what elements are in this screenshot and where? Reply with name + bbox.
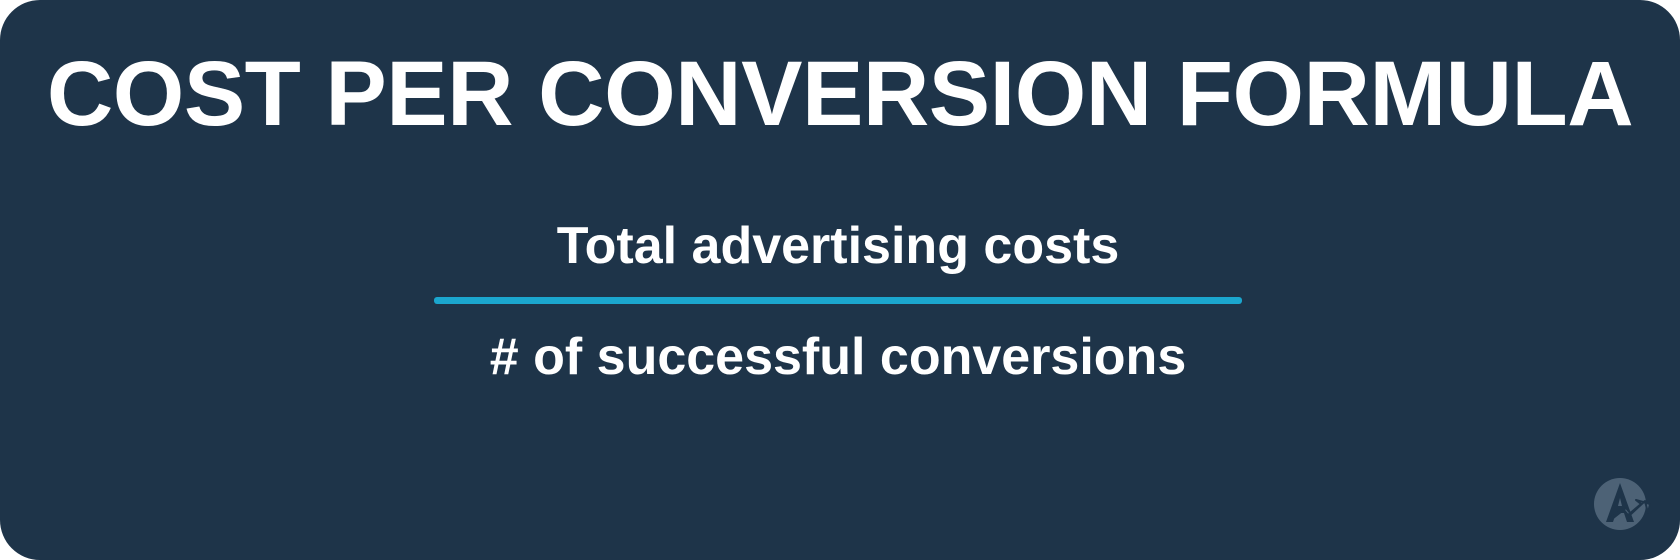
fraction-bar bbox=[434, 297, 1242, 304]
fraction-denominator: # of successful conversions bbox=[490, 326, 1187, 388]
fraction: Total advertising costs # of successful … bbox=[434, 215, 1242, 388]
fraction-numerator: Total advertising costs bbox=[557, 215, 1120, 277]
a-arrow-logo-icon bbox=[1586, 470, 1658, 542]
page-title: COST PER CONVERSION FORMULA bbox=[0, 44, 1680, 144]
cost-per-conversion-formula-card: COST PER CONVERSION FORMULA Total advert… bbox=[0, 0, 1680, 560]
formula-block: Total advertising costs # of successful … bbox=[0, 215, 1680, 388]
